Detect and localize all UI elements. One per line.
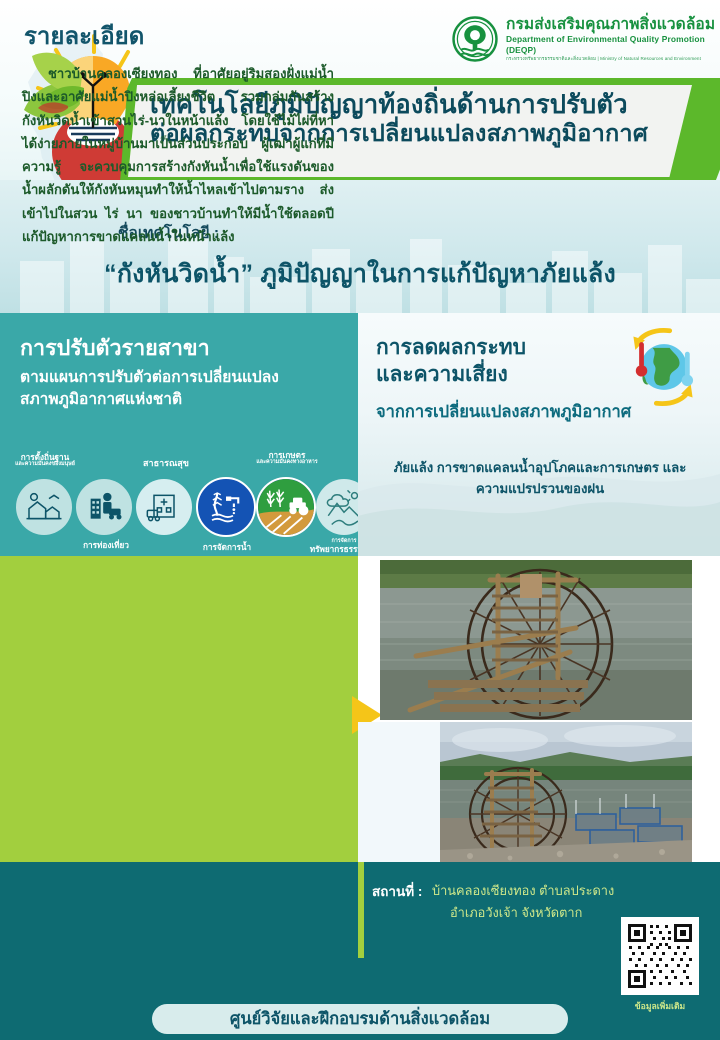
photo-gutter-white [358, 722, 440, 862]
sector-item-water-management[interactable]: การจัดการน้ำ [196, 477, 256, 537]
sector-label-settlement: การตั้งถิ่นฐาน และความมั่นคงของมนุษย์ [10, 453, 80, 468]
sector-item-agriculture[interactable]: การเกษตร และความมั่นคงทางอาหาร [256, 477, 316, 537]
location-label: สถานที่ : [372, 880, 422, 902]
details-title: รายละเอียด [24, 16, 144, 55]
impact-subheading: จากการเปลี่ยนแปลงสภาพภูมิอากาศ [376, 399, 631, 425]
footer-organization-pill: ศูนย์วิจัยและฝึกอบรมด้านสิ่งแวดล้อม [152, 1004, 568, 1034]
org-name-thai: กรมส่งเสริมคุณภาพสิ่งแวดล้อม [506, 16, 720, 34]
poster-root: กรมส่งเสริมคุณภาพสิ่งแวดล้อม Department … [0, 0, 720, 1040]
deqp-logo: กรมส่งเสริมคุณภาพสิ่งแวดล้อม Department … [452, 16, 720, 62]
qr-caption: ข้อมูลเพิ่มเติม [621, 999, 699, 1013]
deqp-tree-water-circle-logo-icon [452, 16, 498, 62]
river-faucet-icon [196, 477, 256, 537]
impact-body-line-1: ภัยแล้ง การขาดแคลนน้ำอุปโภคและการเกษตร แ… [372, 457, 708, 478]
impact-heading-line-2: และความเสี่ยง [376, 362, 526, 389]
adaptation-subheading-line-1: ตามแผนการปรับตัวต่อการเปลี่ยนแปลง [20, 367, 342, 389]
sector-label-public-health: สาธารณสุข [134, 459, 198, 469]
qr-code-icon[interactable] [621, 917, 699, 995]
water-wheel-fish-cages-photo [440, 722, 692, 862]
impact-body-line-2: ความแปรปรวนของฝน [372, 478, 708, 499]
impact-heading: การลดผลกระทบ และความเสี่ยง [376, 335, 526, 389]
hospital-ambulance-icon [136, 479, 192, 535]
footer-organization-label: ศูนย์วิจัยและฝึกอบรมด้านสิ่งแวดล้อม [230, 1006, 490, 1032]
location-value: บ้านคลองเซียงทอง ตำบลประดาง อำเภอวังเจ้า… [432, 880, 632, 925]
location-line-2: อำเภอวังเจ้า จังหวัดตาก [450, 902, 632, 924]
impact-reduction-panel: การลดผลกระทบ และความเสี่ยง จากการเปลี่ยน… [358, 313, 720, 556]
impact-body: ภัยแล้ง การขาดแคลนน้ำอุปโภคและการเกษตร แ… [372, 457, 708, 499]
village-houses-icon [16, 479, 72, 535]
adaptation-subheading-line-2: สภาพภูมิอากาศแห่งชาติ [20, 389, 342, 411]
sector-label-agriculture: การเกษตร และความมั่นคงทางอาหาร [248, 451, 326, 466]
farm-tractor-icon [256, 477, 316, 537]
location-accent-bar [358, 862, 364, 958]
sector-item-public-health[interactable]: สาธารณสุข [136, 479, 192, 535]
sector-icons-row: การตั้งถิ่นฐาน และความมั่นคงของมนุษย์ [8, 455, 358, 555]
city-travel-icon [76, 479, 132, 535]
impact-heading-line-1: การลดผลกระทบ [376, 335, 526, 362]
globe-thermometer-cycle-icon [620, 325, 706, 409]
adaptation-subheading: ตามแผนการปรับตัวต่อการเปลี่ยนแปลง สภาพภู… [20, 367, 342, 411]
location-line-1: บ้านคลองเซียงทอง ตำบลประดาง [432, 880, 632, 902]
org-name-english: Department of Environmental Quality Prom… [506, 34, 720, 56]
details-body: ชาวบ้านคลองเซียงทอง ที่อาศัยอยู่ริมสองฝั… [22, 62, 334, 248]
adaptation-heading: การปรับตัวรายสาขา [20, 335, 342, 362]
sector-label-water-management: การจัดการน้ำ [196, 543, 258, 552]
sector-item-tourism[interactable]: การท่องเที่ยว [76, 479, 132, 535]
bamboo-water-wheel-river-photo [380, 560, 692, 720]
sector-label-tourism: การท่องเที่ยว [74, 541, 138, 550]
sector-item-settlement[interactable]: การตั้งถิ่นฐาน และความมั่นคงของมนุษย์ [16, 479, 72, 535]
technology-name: “กังหันวิดน้ำ” ภูมิปัญญาในการแก้ปัญหาภัย… [0, 254, 720, 294]
org-ministry: กระทรวงทรัพยากรธรรมชาติและสิ่งแวดล้อม | … [506, 56, 720, 62]
